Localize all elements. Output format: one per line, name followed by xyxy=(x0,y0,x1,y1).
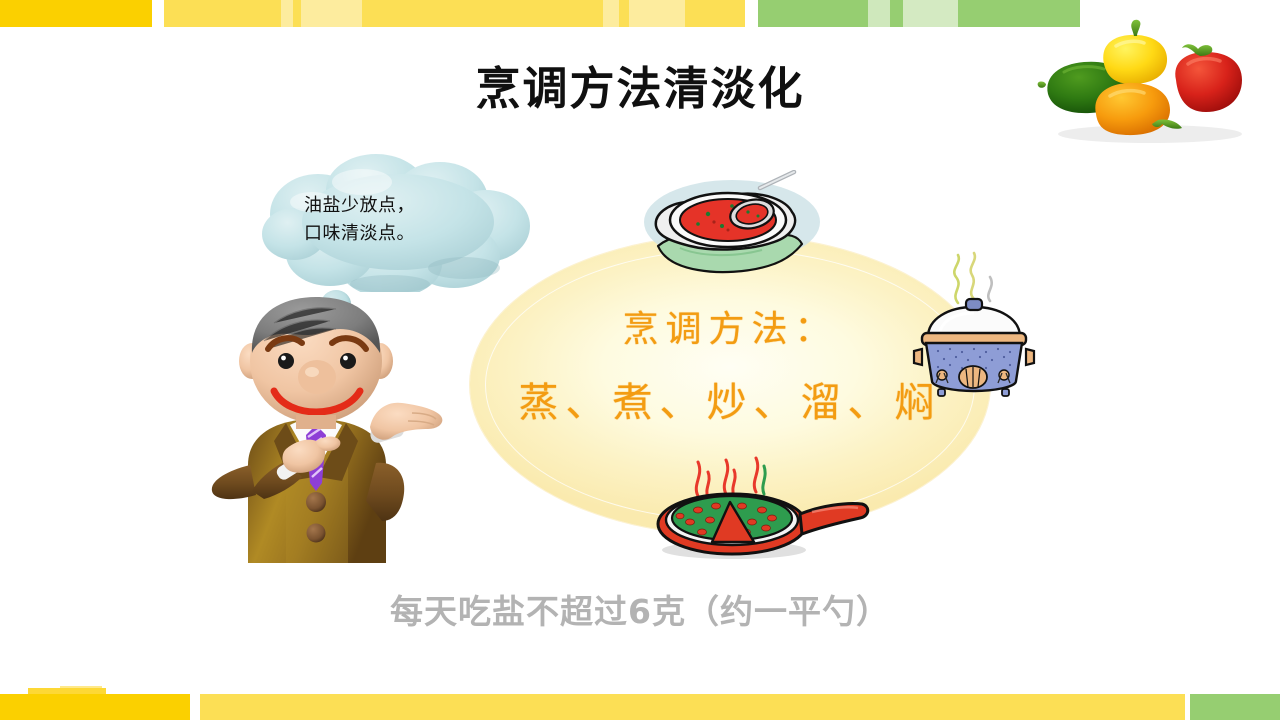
banner-segment-gap-2 xyxy=(745,0,758,27)
banner-segment-yellow-block-3 xyxy=(685,0,745,27)
banner-segment-pale-stripe-2 xyxy=(603,0,619,27)
slow-cooker-icon xyxy=(912,245,1036,400)
banner-segment-yellow-stripe xyxy=(293,0,301,27)
thought-line-1: 油盐少放点， xyxy=(304,192,504,220)
flame-wisps xyxy=(696,458,765,498)
slide-canvas: 烹调方法清淡化 烹调方法： 蒸、煮、炒、溜、焖 xyxy=(0,0,1280,720)
banner-segment-gold-block xyxy=(0,0,152,27)
banner-segment-pale-green-block xyxy=(903,0,958,27)
banner-segment-gold-block xyxy=(0,694,190,720)
slide-title: 烹调方法清淡化 xyxy=(0,52,1280,117)
steam-wisps xyxy=(954,253,991,303)
salt-caption: 每天吃盐不超过6克（约一平勺） xyxy=(0,585,1280,633)
banner-segment-gap xyxy=(190,694,200,720)
frying-pan-icon xyxy=(650,450,872,560)
thought-line-2: 口味清淡点。 xyxy=(304,220,504,248)
banner-segment-gap xyxy=(152,0,164,27)
banner-segment-yellow-block-2 xyxy=(362,0,603,27)
banner-segment-yellow-block xyxy=(164,0,281,27)
cartoon-man-illustration xyxy=(190,295,456,565)
thought-bubble-text: 油盐少放点， 口味清淡点。 xyxy=(304,192,504,248)
bottom-decorative-banner xyxy=(0,694,1280,720)
banner-segment-pale-green-stripe xyxy=(868,0,890,27)
banner-segment-pale-stripe xyxy=(281,0,293,27)
banner-segment-green-stripe xyxy=(890,0,903,27)
banner-segment-yellow-block xyxy=(200,694,1185,720)
banner-segment-pale-block-2 xyxy=(629,0,685,27)
banner-segment-green-block xyxy=(758,0,868,27)
banner-segment-yellow-stripe-2 xyxy=(619,0,629,27)
banner-segment-green-block xyxy=(1190,694,1280,720)
banner-segment-pale-block xyxy=(301,0,362,27)
soup-bowl-icon xyxy=(636,170,828,292)
